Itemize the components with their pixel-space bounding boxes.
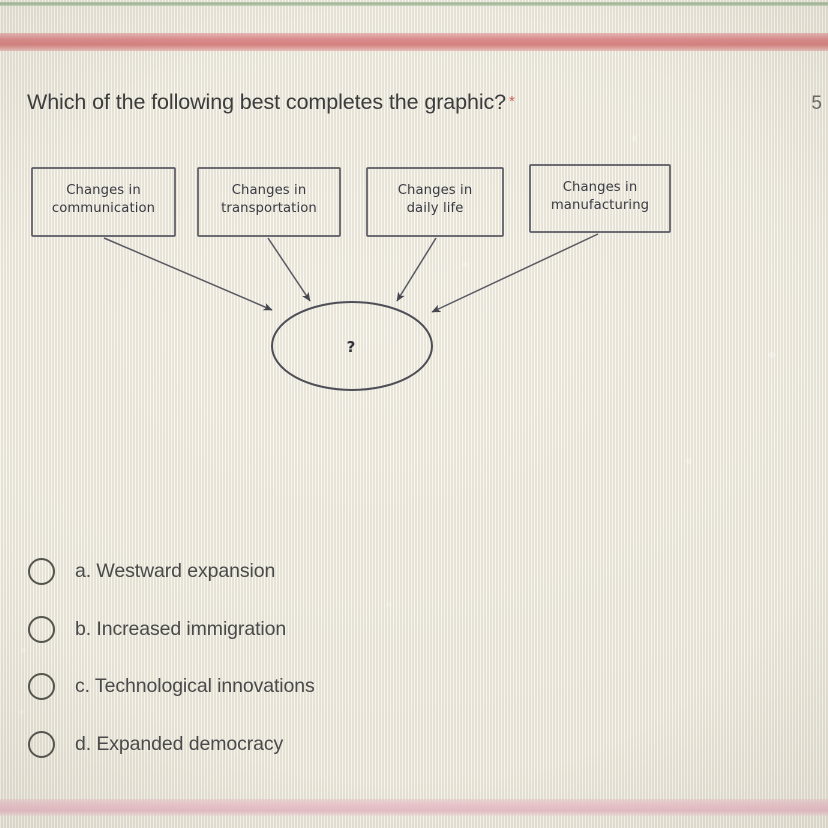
option-label-d[interactable]: d. Expanded democracy — [75, 733, 283, 756]
box-2-line2: transportation — [221, 201, 317, 216]
top-green-strip — [0, 2, 828, 6]
radio-button-b[interactable] — [28, 616, 55, 643]
arrow-from-box-2 — [268, 238, 310, 301]
required-asterisk: * — [509, 93, 515, 110]
option-row-a[interactable]: a. Westward expansion — [28, 543, 628, 601]
question-label: Which of the following best completes th… — [27, 90, 506, 114]
diagram-center-ellipse: ? — [272, 302, 432, 390]
question-text: Which of the following best completes th… — [27, 90, 515, 115]
box-3-line1: Changes in — [398, 183, 473, 198]
screenshot-root: Which of the following best completes th… — [0, 0, 828, 828]
option-label-b[interactable]: b. Increased immigration — [75, 618, 286, 641]
box-4-line1: Changes in — [563, 180, 638, 195]
option-row-b[interactable]: b. Increased immigration — [28, 601, 628, 659]
graphic-organizer-diagram: Changes in communication Changes in tran… — [0, 150, 828, 410]
radio-button-c[interactable] — [28, 673, 55, 700]
box-3-line2: daily life — [407, 201, 464, 216]
diagram-box-daily-life: Changes in daily life — [367, 168, 503, 236]
radio-button-d[interactable] — [28, 731, 55, 758]
diagram-box-communication: Changes in communication — [32, 168, 175, 236]
arrow-from-box-3 — [397, 238, 436, 301]
top-pink-bar — [0, 33, 828, 51]
box-1-line2: communication — [52, 201, 155, 216]
arrow-from-box-4 — [432, 234, 598, 312]
answer-options-list: a. Westward expansion b. Increased immig… — [28, 543, 628, 773]
diagram-box-manufacturing: Changes in manufacturing — [530, 165, 670, 232]
bottom-pink-bar — [0, 799, 828, 816]
option-row-c[interactable]: c. Technological innovations — [28, 658, 628, 716]
ellipse-question-mark: ? — [347, 338, 356, 356]
diagram-box-transportation: Changes in transportation — [198, 168, 340, 236]
option-label-a[interactable]: a. Westward expansion — [75, 560, 275, 583]
option-label-c[interactable]: c. Technological innovations — [75, 675, 315, 698]
box-2-line1: Changes in — [232, 183, 307, 198]
diagram-arrows — [104, 234, 598, 312]
points-value: 5 — [811, 93, 822, 115]
box-4-line2: manufacturing — [551, 198, 649, 213]
arrow-from-box-1 — [104, 238, 272, 310]
option-row-d[interactable]: d. Expanded democracy — [28, 716, 628, 774]
radio-button-a[interactable] — [28, 558, 55, 585]
box-1-line1: Changes in — [66, 183, 141, 198]
